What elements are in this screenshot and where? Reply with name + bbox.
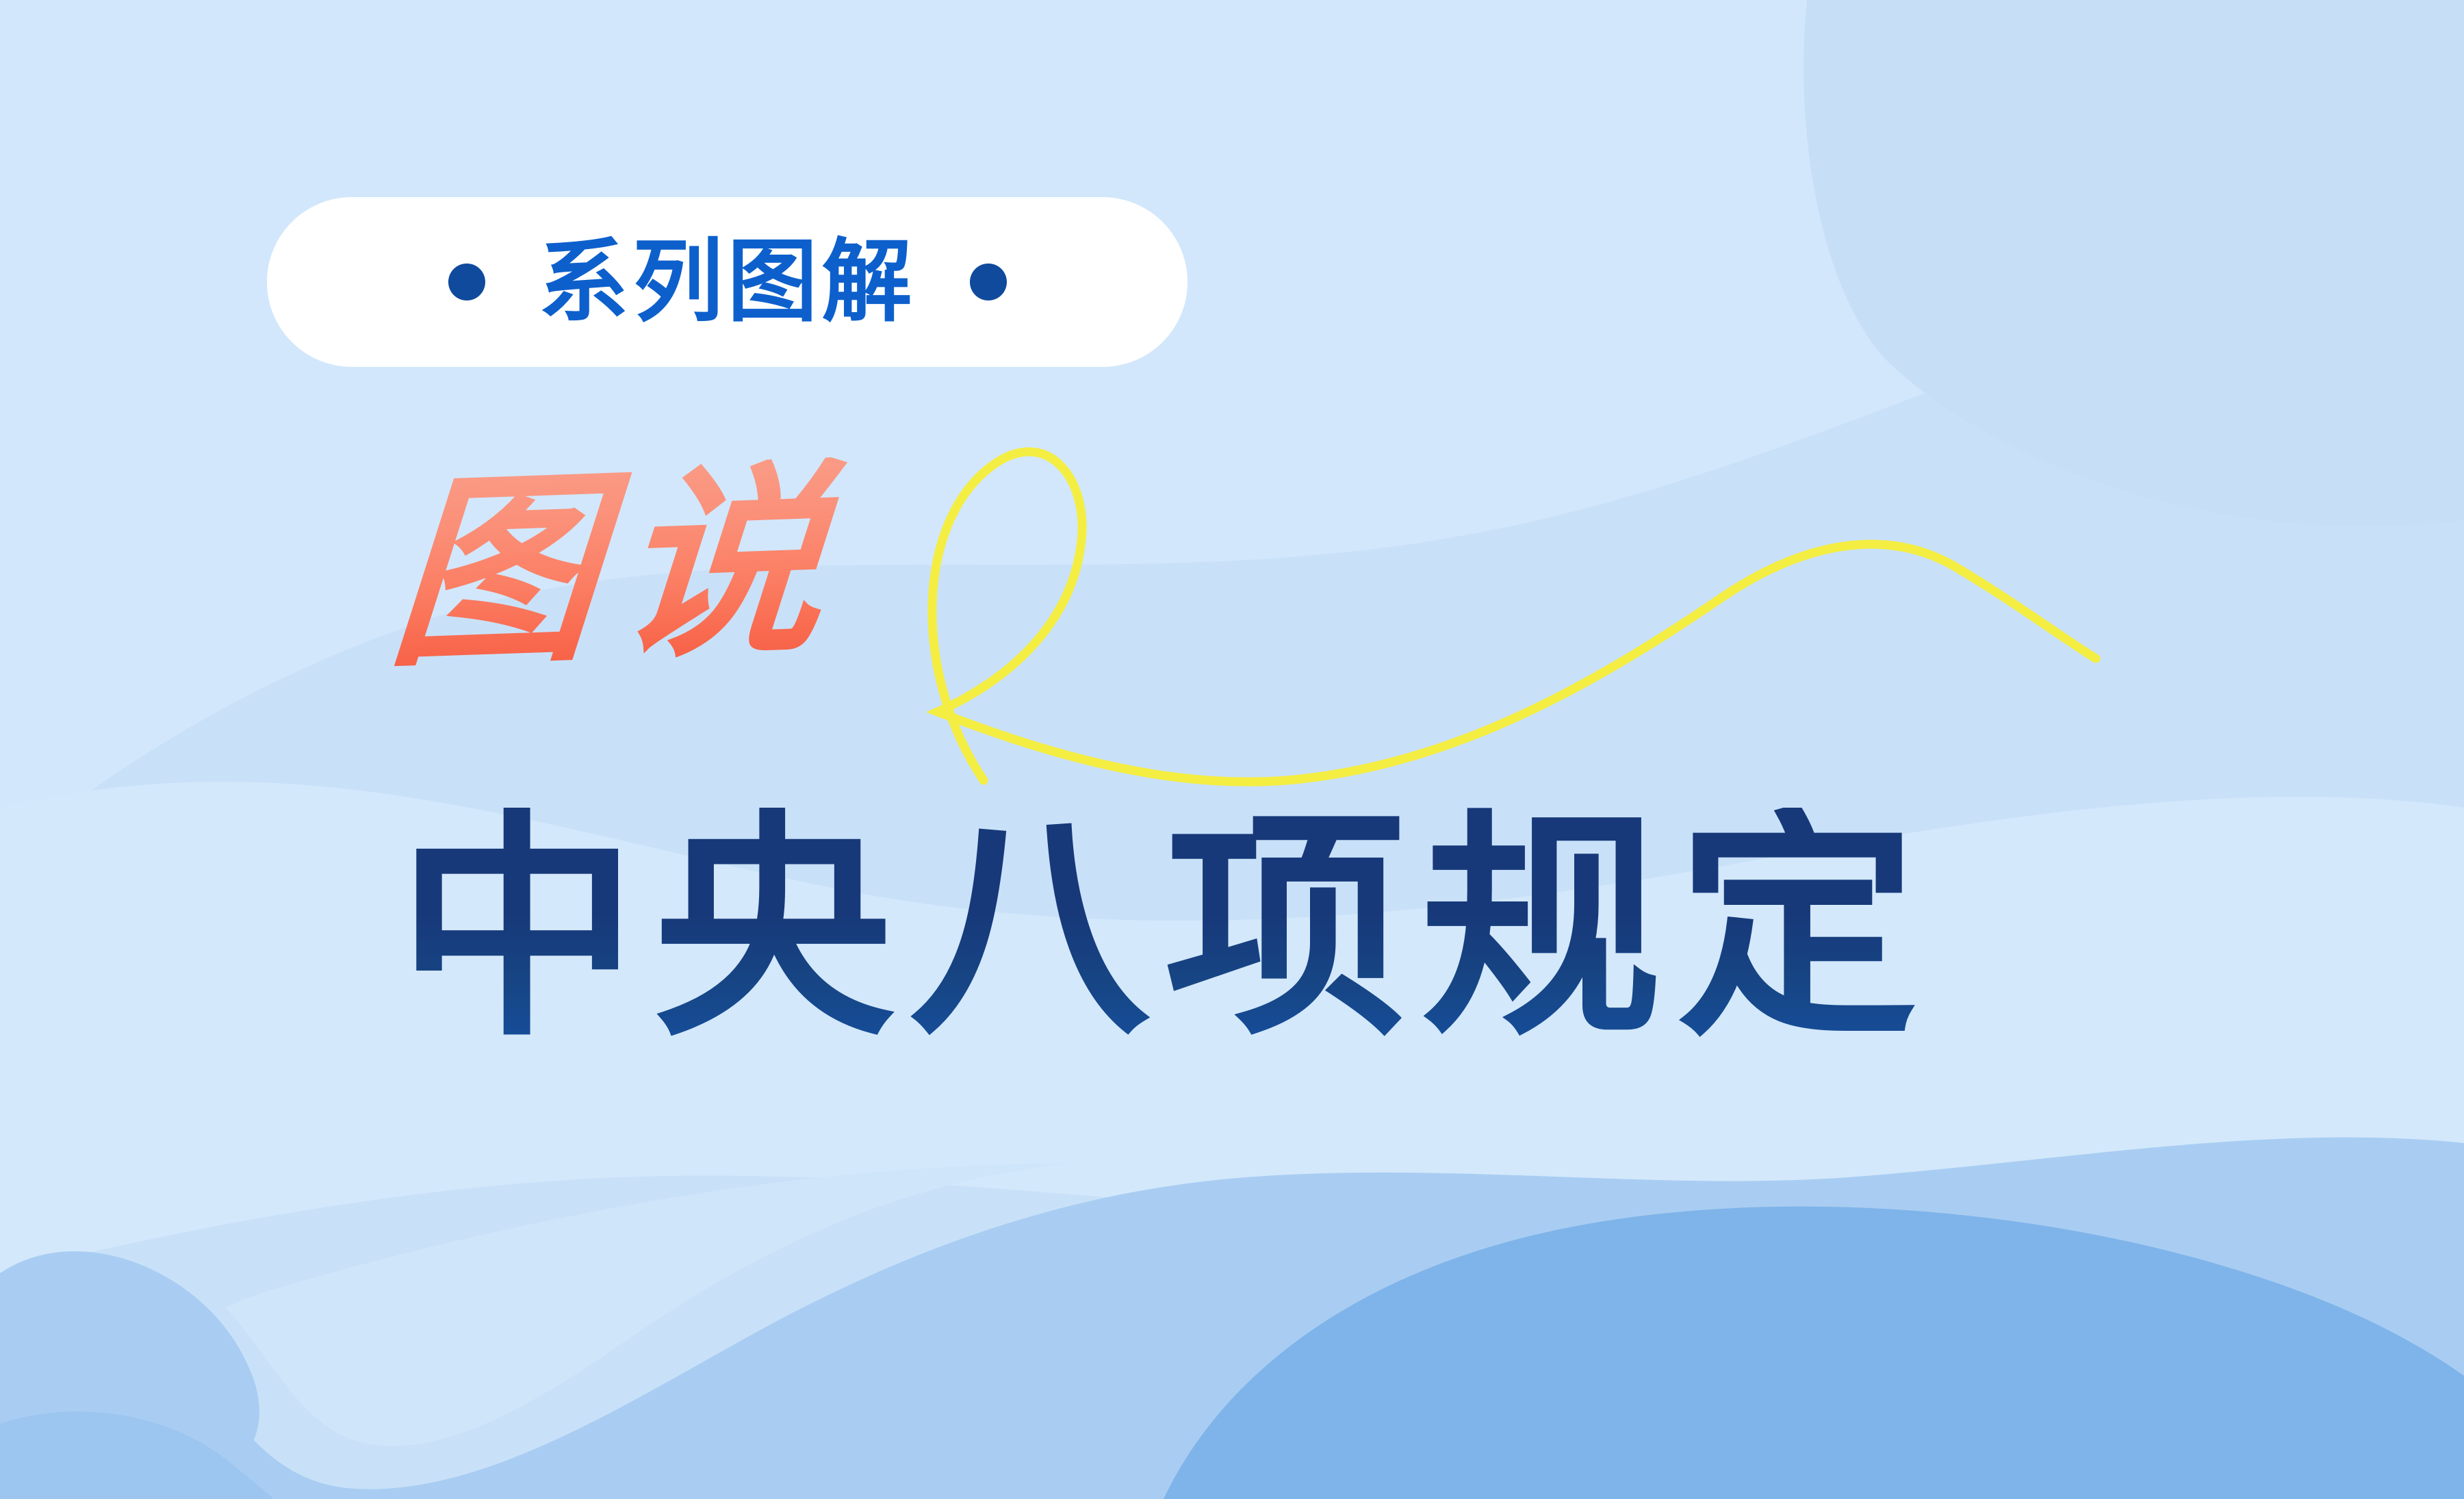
badge-dot-right-icon	[970, 264, 1007, 300]
brush-script-text: 图说	[384, 457, 851, 678]
badge-dot-left-icon	[448, 264, 485, 300]
headline-text: 中央八项规定	[397, 808, 1933, 1049]
poster-canvas: 系列图解 图说 中央八项规定	[0, 0, 2464, 1499]
series-badge-label: 系列图解	[539, 237, 916, 327]
series-badge[interactable]: 系列图解	[267, 197, 1188, 367]
brush-script-wrapper: 图说	[392, 472, 966, 767]
page-title: 中央八项规定	[397, 808, 2122, 1081]
